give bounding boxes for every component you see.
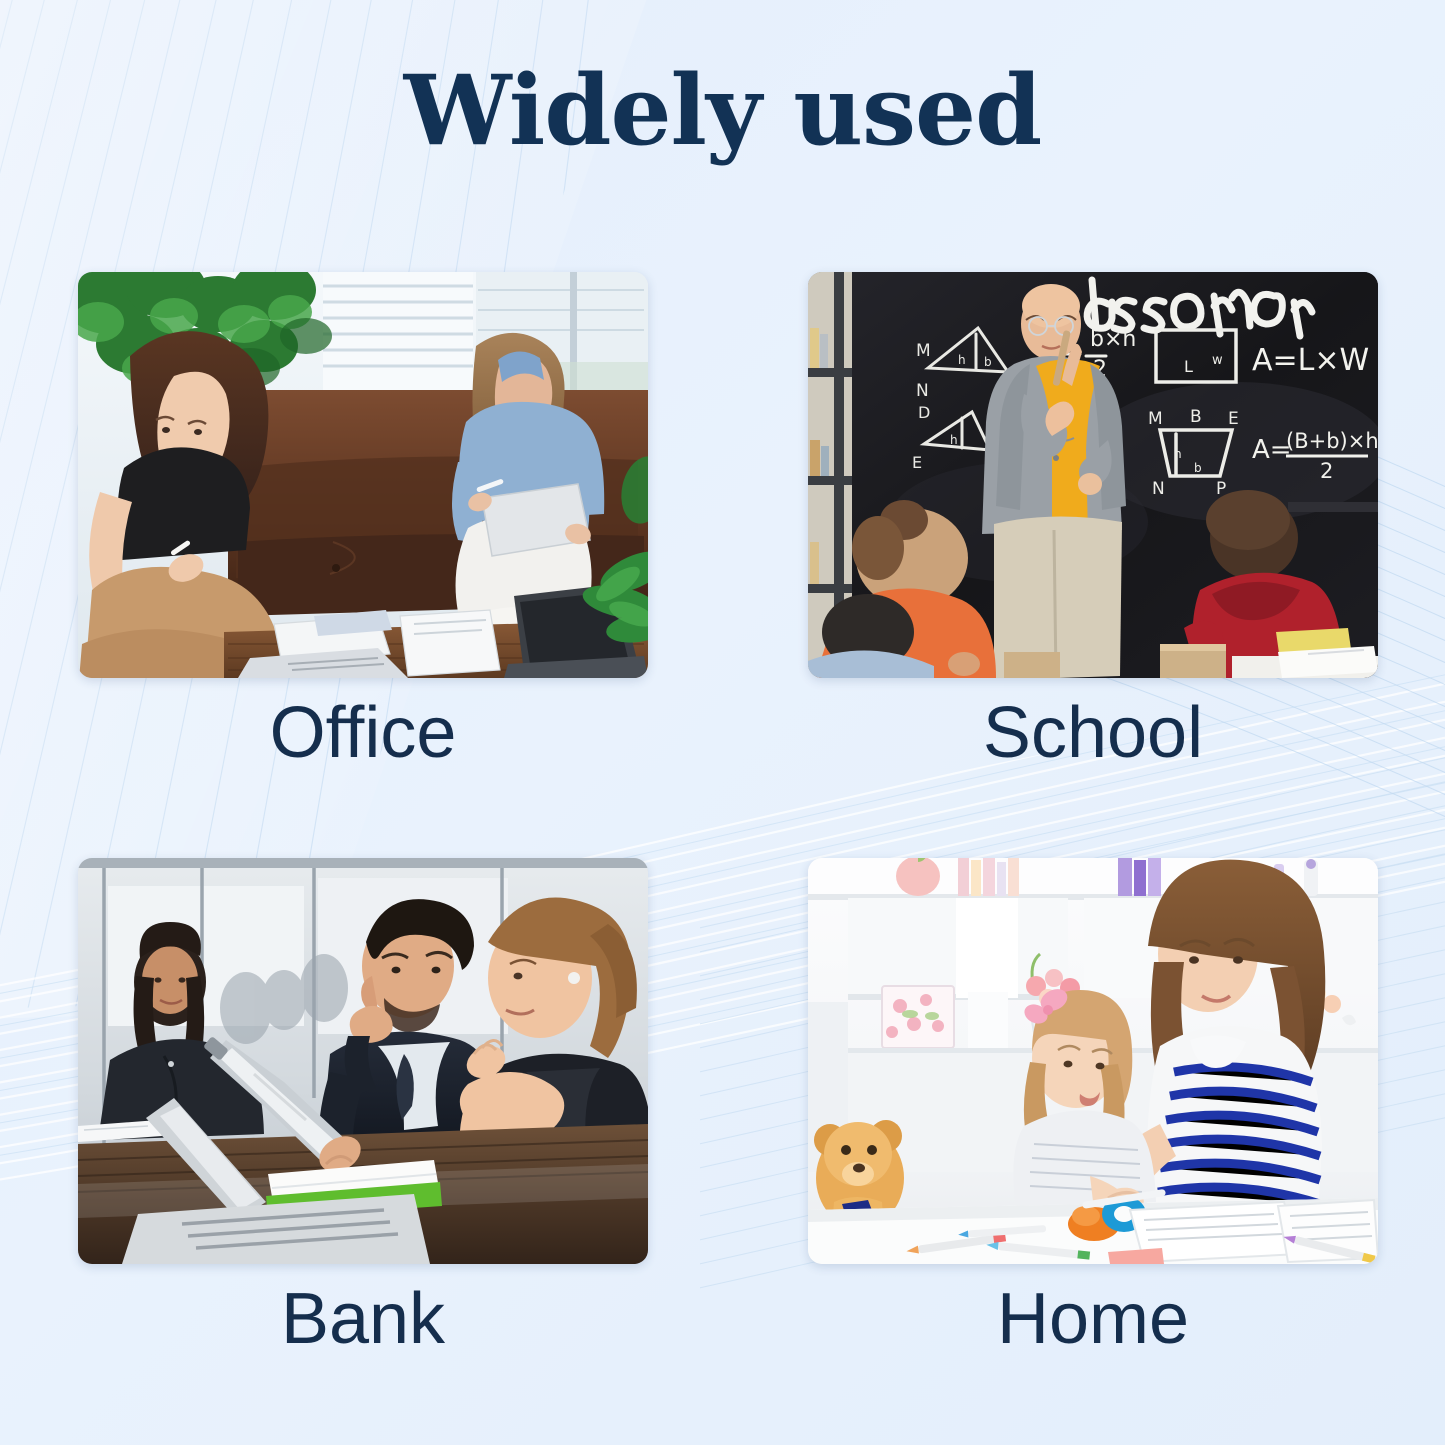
svg-text:h: h xyxy=(1174,447,1182,461)
scenario-card-bank[interactable]: Bank xyxy=(78,858,648,1358)
scenario-label-office: Office xyxy=(78,696,648,772)
svg-text:L: L xyxy=(1184,357,1193,376)
svg-text:b: b xyxy=(984,355,992,369)
svg-text:(B+b)×h: (B+b)×h xyxy=(1286,429,1378,453)
svg-text:B: B xyxy=(1190,407,1202,427)
svg-text:M: M xyxy=(916,341,931,361)
scenario-card-office[interactable]: Office xyxy=(78,272,648,772)
office-photo xyxy=(78,272,648,678)
school-photo: M N h b b×h 2 L w A=L× xyxy=(808,272,1378,678)
svg-text:b: b xyxy=(1194,461,1202,475)
svg-text:E: E xyxy=(912,453,922,472)
scenario-label-school: School xyxy=(808,696,1378,772)
poster-root: Widely used xyxy=(0,0,1445,1445)
svg-text:2: 2 xyxy=(1320,459,1333,483)
svg-text:A=L×W: A=L×W xyxy=(1252,343,1369,378)
svg-text:b×h: b×h xyxy=(1090,327,1136,352)
svg-text:N: N xyxy=(916,381,929,401)
home-photo xyxy=(808,858,1378,1264)
svg-text:h: h xyxy=(950,433,958,447)
svg-text:w: w xyxy=(1212,353,1223,368)
bank-photo xyxy=(78,858,648,1264)
scenario-card-home[interactable]: Home xyxy=(808,858,1378,1358)
page-title: Widely used xyxy=(0,58,1445,164)
svg-text:h: h xyxy=(958,353,966,367)
svg-text:D: D xyxy=(918,403,930,422)
scenario-label-home: Home xyxy=(808,1282,1378,1358)
svg-text:N: N xyxy=(1152,479,1165,499)
svg-text:E: E xyxy=(1228,409,1239,429)
svg-text:M: M xyxy=(1148,409,1163,429)
scenario-label-bank: Bank xyxy=(78,1282,648,1358)
scenario-card-school[interactable]: M N h b b×h 2 L w A=L× xyxy=(808,272,1378,772)
